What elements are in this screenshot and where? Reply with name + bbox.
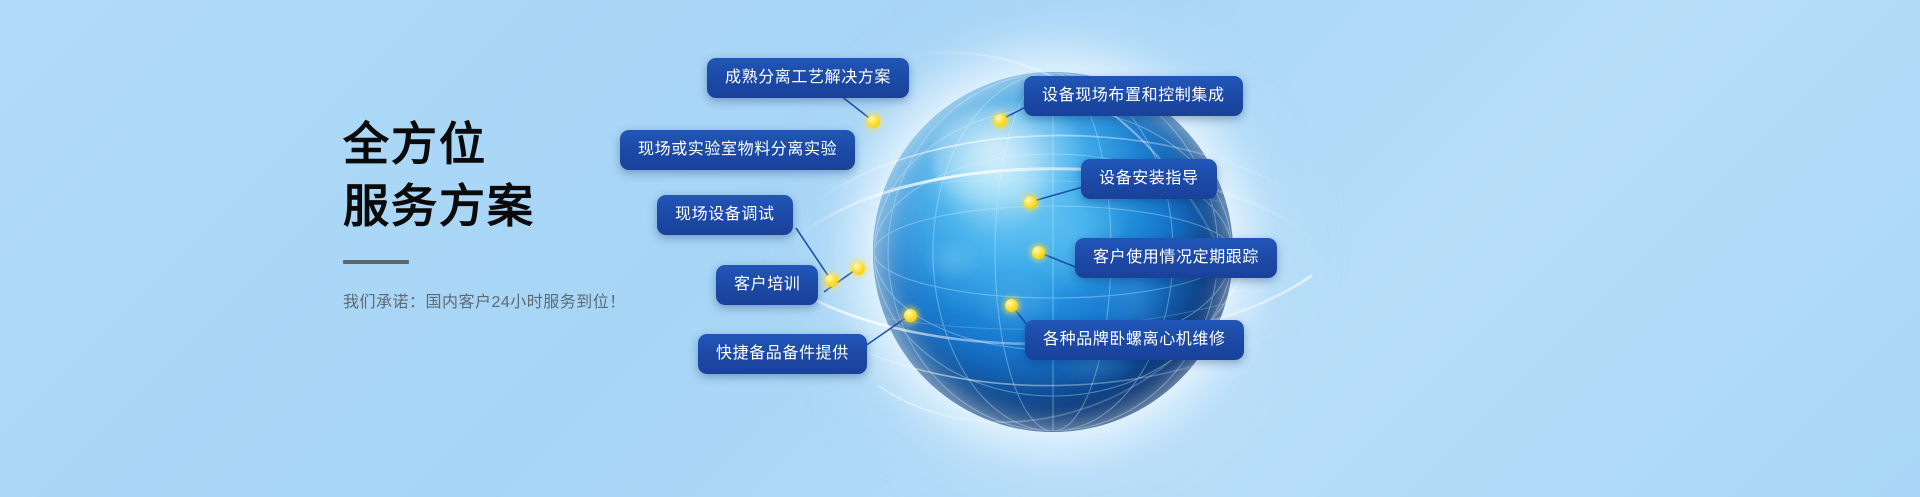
connector-node [852,262,865,275]
globe-scene: 成熟分离工艺解决方案 现场或实验室物料分离实验 现场设备调试 客户培训 快捷备品… [600,0,1920,497]
headline-divider [343,260,409,264]
connector-node [904,309,917,322]
connector-node [1005,299,1018,312]
connector-node [994,114,1007,127]
service-label-multi-brand-decanter-centrifuge-maintenance[interactable]: 各种品牌卧螺离心机维修 [1025,320,1244,360]
service-label-onsite-equipment-commissioning[interactable]: 现场设备调试 [657,195,793,235]
service-solution-banner: 全方位 服务方案 我们承诺：国内客户24小时服务到位！ [0,0,1920,497]
connector-node [1024,196,1037,209]
service-label-mature-separation-process-solution[interactable]: 成熟分离工艺解决方案 [707,58,909,98]
connector-node [867,115,880,128]
service-label-fast-spare-parts-supply[interactable]: 快捷备品备件提供 [698,334,867,374]
connector-node [825,274,838,287]
connector-node [1032,246,1045,259]
service-label-equipment-site-layout-and-control-integration[interactable]: 设备现场布置和控制集成 [1024,76,1243,116]
service-label-periodic-customer-usage-tracking[interactable]: 客户使用情况定期跟踪 [1075,238,1277,278]
service-label-equipment-installation-guidance[interactable]: 设备安装指导 [1081,159,1217,199]
service-label-customer-training[interactable]: 客户培训 [716,265,818,305]
service-label-onsite-or-lab-material-separation-test[interactable]: 现场或实验室物料分离实验 [620,130,855,170]
